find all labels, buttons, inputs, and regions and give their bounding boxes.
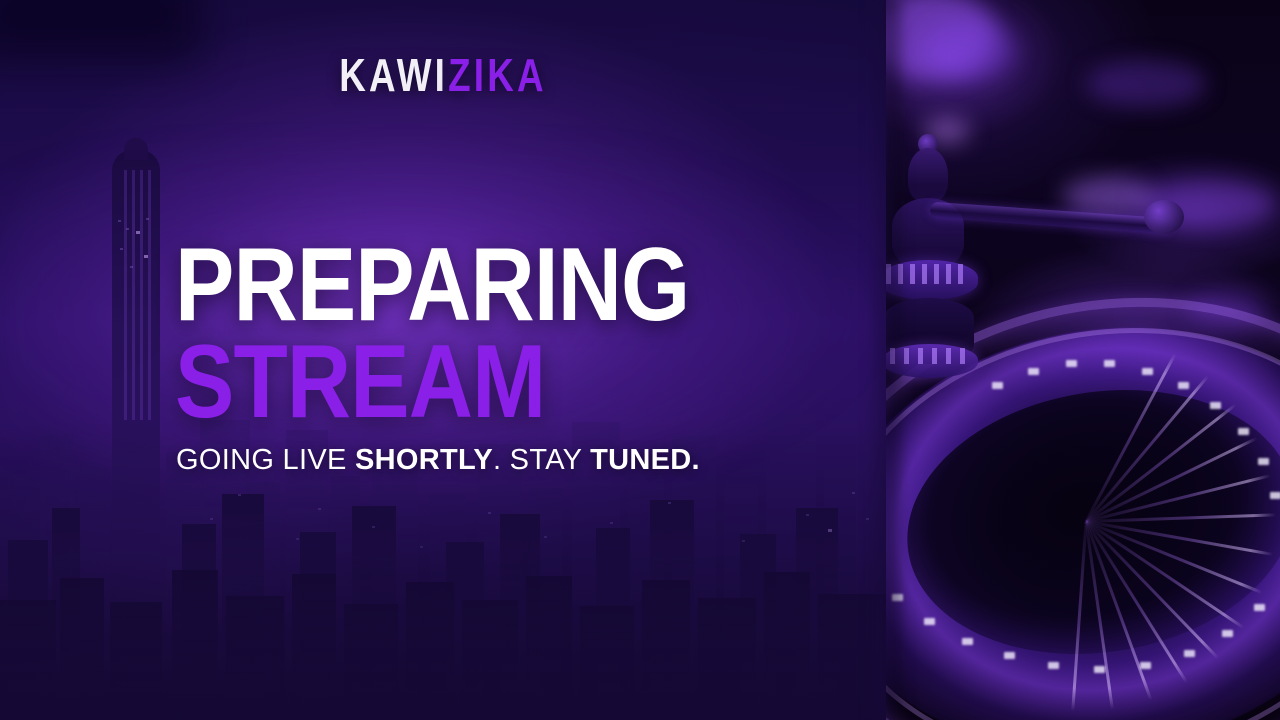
bottom-vignette xyxy=(0,550,886,720)
panel-seam xyxy=(866,0,908,720)
stream-starting-soon-overlay: KAWIZIKA PREPARING STREAM GOING LIVE SHO… xyxy=(0,0,1280,720)
logo-primary-text: KAWI xyxy=(339,49,448,101)
turret-top xyxy=(908,148,948,202)
corner-shadow xyxy=(0,0,200,60)
headline-block: PREPARING STREAM xyxy=(175,244,777,424)
subtitle-part-4: TUNED. xyxy=(590,444,700,476)
logo-accent-text: ZIKA xyxy=(448,49,547,101)
subtitle-part-2: SHORTLY xyxy=(355,444,493,476)
headline-line-2: STREAM xyxy=(175,341,689,424)
roulette-arm-knob xyxy=(1144,200,1184,234)
tower-cap xyxy=(124,138,148,160)
channel-logo: KAWIZIKA xyxy=(89,52,798,98)
subtitle-part-1: GOING LIVE xyxy=(176,444,355,476)
roulette-wheel-panel xyxy=(886,0,1280,720)
subtitle-line: GOING LIVE SHORTLY. STAY TUNED. xyxy=(176,444,700,477)
subtitle-part-3: . STAY xyxy=(493,444,590,476)
headline-line-1: PREPARING xyxy=(175,244,689,327)
